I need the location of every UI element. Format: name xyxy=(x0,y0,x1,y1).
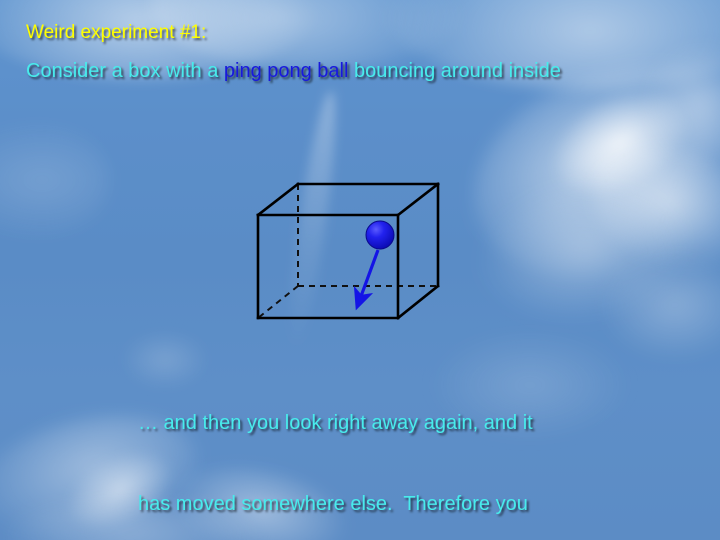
ping-pong-ball xyxy=(366,221,394,249)
trajectory-arrow xyxy=(360,250,378,299)
slide-canvas: Weird experiment #1: Consider a box with… xyxy=(0,0,720,540)
slide-title: Weird experiment #1: xyxy=(26,22,206,44)
subtitle-highlight-ping-pong-ball: ping pong ball xyxy=(224,60,349,82)
body-paragraph: … and then you look right away again, an… xyxy=(138,356,550,540)
box-visible-edges xyxy=(258,184,438,318)
slide-subtitle: Consider a box with a ping pong ball bou… xyxy=(26,60,561,83)
body-line-1: … and then you look right away again, an… xyxy=(138,410,550,437)
subtitle-text-after: bouncing around inside xyxy=(348,60,560,82)
body-line-2: has moved somewhere else. Therefore you xyxy=(138,491,550,518)
box-diagram-svg xyxy=(240,160,480,340)
subtitle-text-before: Consider a box with a xyxy=(26,60,224,82)
box-diagram xyxy=(240,160,480,340)
